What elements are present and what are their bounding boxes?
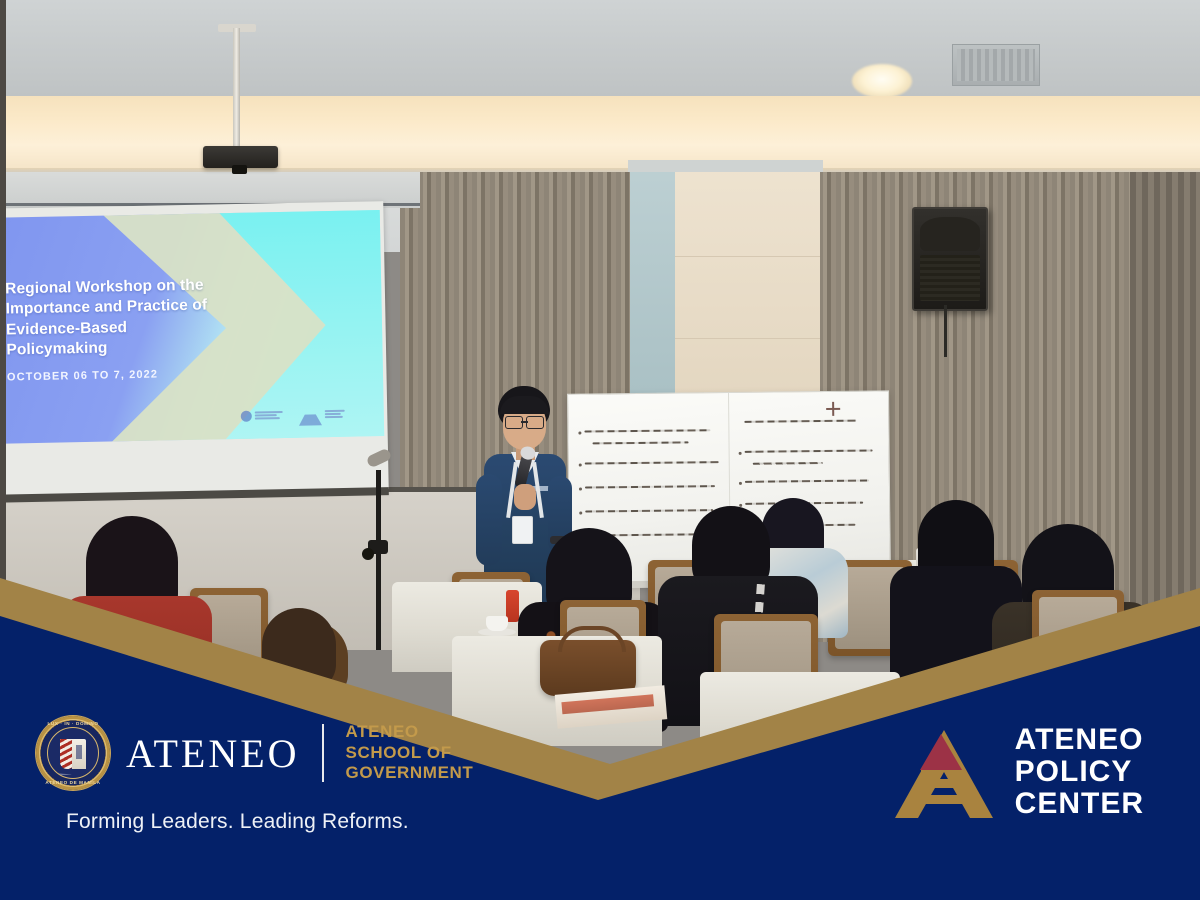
speaker-cone	[920, 217, 980, 251]
presenter-hand-left	[514, 484, 536, 510]
asg-tagline: Forming Leaders. Leading Reforms.	[66, 810, 409, 834]
seal-motto-bottom: ATENEO DE MANILA	[36, 780, 110, 785]
seal-inner-field	[47, 727, 99, 779]
asg-line-3: GOVERNMENT	[346, 763, 474, 784]
apc-triangle-icon	[895, 726, 993, 818]
event-photo-banner: Regional Workshop on theImportance and P…	[0, 0, 1200, 900]
apc-red-triangle	[920, 734, 962, 770]
slide-partner-logos	[241, 403, 345, 427]
wall-speaker	[912, 207, 988, 311]
pillar-cap	[628, 160, 823, 172]
partner-logo-1-icon	[241, 410, 252, 421]
lockup-divider	[322, 724, 324, 782]
whiteboard-cross-mark	[826, 402, 840, 416]
ceiling-downlight	[852, 64, 912, 98]
slide-title: Regional Workshop on theImportance and P…	[5, 275, 257, 362]
pillar-accent-panel	[630, 162, 675, 407]
presentation-slide: Regional Workshop on theImportance and P…	[0, 210, 384, 444]
projector-lens	[232, 165, 247, 174]
apc-monogram-bar-lower	[921, 795, 977, 804]
speaker-cable	[944, 305, 947, 357]
cove-lighting	[0, 96, 1200, 172]
partner-logo-2	[299, 403, 345, 426]
apc-line-3: CENTER	[1015, 788, 1144, 820]
presenter-left-arm	[476, 474, 502, 566]
ateneo-wordmark: ATENEO	[126, 730, 300, 777]
handbag	[540, 640, 636, 696]
apc-line-2: POLICY	[1015, 756, 1144, 788]
ateneo-seal-icon: LUX · IN · DOMINO ATENEO DE MANILA	[36, 716, 110, 790]
partner-logo-1	[241, 410, 283, 422]
asg-line-1: ATENEO	[346, 722, 474, 743]
ateneo-policy-center-lockup: ATENEO POLICY CENTER	[895, 724, 1144, 819]
partner-logo-2-text	[325, 410, 345, 418]
curtain-far-right	[1130, 172, 1200, 642]
mic-stand-knob	[362, 548, 374, 560]
seal-tower	[72, 739, 86, 769]
footer-branding: LUX · IN · DOMINO ATENEO DE MANILA ATENE…	[0, 710, 1200, 900]
asg-unit-name: ATENEO SCHOOL OF GOVERNMENT	[346, 722, 474, 784]
apc-line-1: ATENEO	[1015, 724, 1144, 756]
ateneo-school-of-government-lockup: LUX · IN · DOMINO ATENEO DE MANILA ATENE…	[36, 716, 473, 790]
eyeglasses-icon	[505, 416, 544, 427]
slide-date: OCTOBER 06 TO 7, 2022	[7, 369, 158, 384]
microphone-stand	[376, 470, 381, 650]
water-bottle	[506, 590, 519, 622]
projector-pole	[233, 28, 240, 148]
partner-logo-1-text	[255, 411, 283, 419]
speaker-grill	[920, 255, 980, 301]
apc-monogram-bar-upper	[921, 779, 965, 788]
asg-line-2: SCHOOL OF	[346, 743, 474, 764]
coffee-cup	[486, 616, 508, 631]
presenter-fringe	[500, 396, 549, 414]
partner-logo-2-icon	[299, 403, 322, 425]
ceiling-air-vent	[952, 44, 1040, 86]
apc-name: ATENEO POLICY CENTER	[1015, 724, 1144, 819]
seal-motto-top: LUX · IN · DOMINO	[36, 721, 110, 726]
presenter-id-badge	[512, 516, 533, 544]
pillar	[675, 160, 820, 410]
